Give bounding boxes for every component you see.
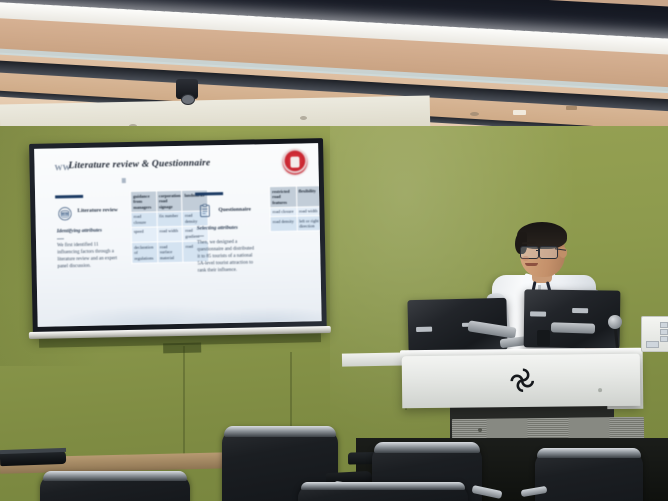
podium-front-panel — [402, 354, 641, 408]
clipboard-document-icon — [197, 203, 212, 218]
ceiling-fixture-1 — [300, 116, 307, 120]
table-cell: declaration of regulations — [132, 242, 158, 263]
layers-icon — [57, 206, 72, 221]
presenter-cheek — [522, 256, 529, 261]
control-panel-button-2[interactable] — [660, 329, 668, 335]
seat-headrest-rim — [537, 448, 641, 458]
table-cell: road density — [270, 216, 297, 232]
gooseneck-microphone[interactable] — [608, 315, 622, 329]
table-cell: fix number — [157, 211, 183, 227]
right-section-heading: Questionnaire — [218, 206, 266, 214]
ceiling — [0, 0, 668, 132]
slide-title: Literature review & Questionnaire — [68, 158, 210, 171]
right-section-rule — [195, 192, 223, 195]
table-cell: road width — [296, 206, 321, 216]
right-attributes-table: restricted road features flexibility roa… — [269, 185, 322, 233]
seat-headrest-rim — [374, 442, 480, 453]
left-section-divider — [57, 238, 64, 239]
control-panel-button-1[interactable] — [660, 322, 668, 328]
table-cell: road surface material — [157, 241, 183, 262]
table-cell: road closure — [270, 207, 297, 217]
table-row: road density left or right direction — [270, 216, 322, 232]
slide-small-glyph — [122, 178, 126, 183]
table-header-cell: guidance from managers — [131, 191, 157, 212]
table-cell: speed — [131, 227, 157, 243]
table-header-cell: restricted road features — [269, 186, 296, 207]
left-section-rule — [55, 195, 83, 198]
control-panel-button-4[interactable] — [646, 341, 659, 348]
eyeglasses-bridge — [536, 250, 540, 251]
monitor-right-label — [530, 311, 546, 316]
slide-left-section: Literature review Identifying attributes… — [55, 194, 125, 195]
vent-latch — [478, 428, 482, 432]
wall-seam-1 — [183, 346, 185, 456]
table-header-cell: flexibility — [296, 186, 322, 207]
monitor-right-hinge — [537, 330, 550, 346]
university-seal-logo — [282, 149, 307, 174]
table-header-row: restricted road features flexibility — [269, 186, 321, 208]
right-section-subheading: Selecting attributes — [197, 225, 238, 232]
projection-screen: WW Literature review & Questionnaire Lit… — [29, 138, 327, 342]
seat-headrest-rim — [301, 482, 465, 490]
monitor-left-label — [416, 327, 432, 332]
left-section-body: We first identified 11 influencing facto… — [57, 242, 118, 271]
screen-roller-tab — [163, 343, 201, 354]
ceiling-fixture-2 — [470, 112, 479, 116]
ceiling-fixture-4 — [566, 106, 577, 110]
polyu-knot-logo — [508, 366, 538, 396]
wall-control-panel[interactable] — [641, 316, 668, 352]
slide-background-graphic — [37, 281, 322, 327]
monitor-right-arm — [551, 322, 595, 334]
seat-headrest-rim — [224, 426, 336, 437]
presenter-mouth — [525, 263, 538, 266]
screen-surface: WW Literature review & Questionnaire Lit… — [34, 143, 322, 327]
table-cell: road closure — [131, 212, 157, 228]
right-section-divider — [197, 235, 204, 236]
seat-headrest-rim — [43, 471, 187, 481]
right-section-body: Then, we designed a questionnaire and di… — [197, 239, 258, 275]
table-cell: left or right direction — [297, 216, 322, 232]
left-section-subheading: Identifying attributes — [57, 228, 102, 235]
table-header-cell: corporation road signage — [156, 190, 182, 211]
left-section-heading: Literature review — [77, 207, 121, 215]
lecture-hall-photo: WW Literature review & Questionnaire Lit… — [0, 0, 668, 501]
control-panel-button-3[interactable] — [660, 336, 668, 342]
monitor-right-port-label — [572, 308, 588, 313]
podium-screw — [598, 388, 602, 392]
ceiling-fixture-3 — [513, 110, 526, 115]
table-cell: road width — [157, 226, 183, 242]
ceiling-projector — [176, 79, 198, 99]
presentation-slide: WW Literature review & Questionnaire Lit… — [34, 143, 322, 327]
seat-back — [535, 452, 643, 501]
